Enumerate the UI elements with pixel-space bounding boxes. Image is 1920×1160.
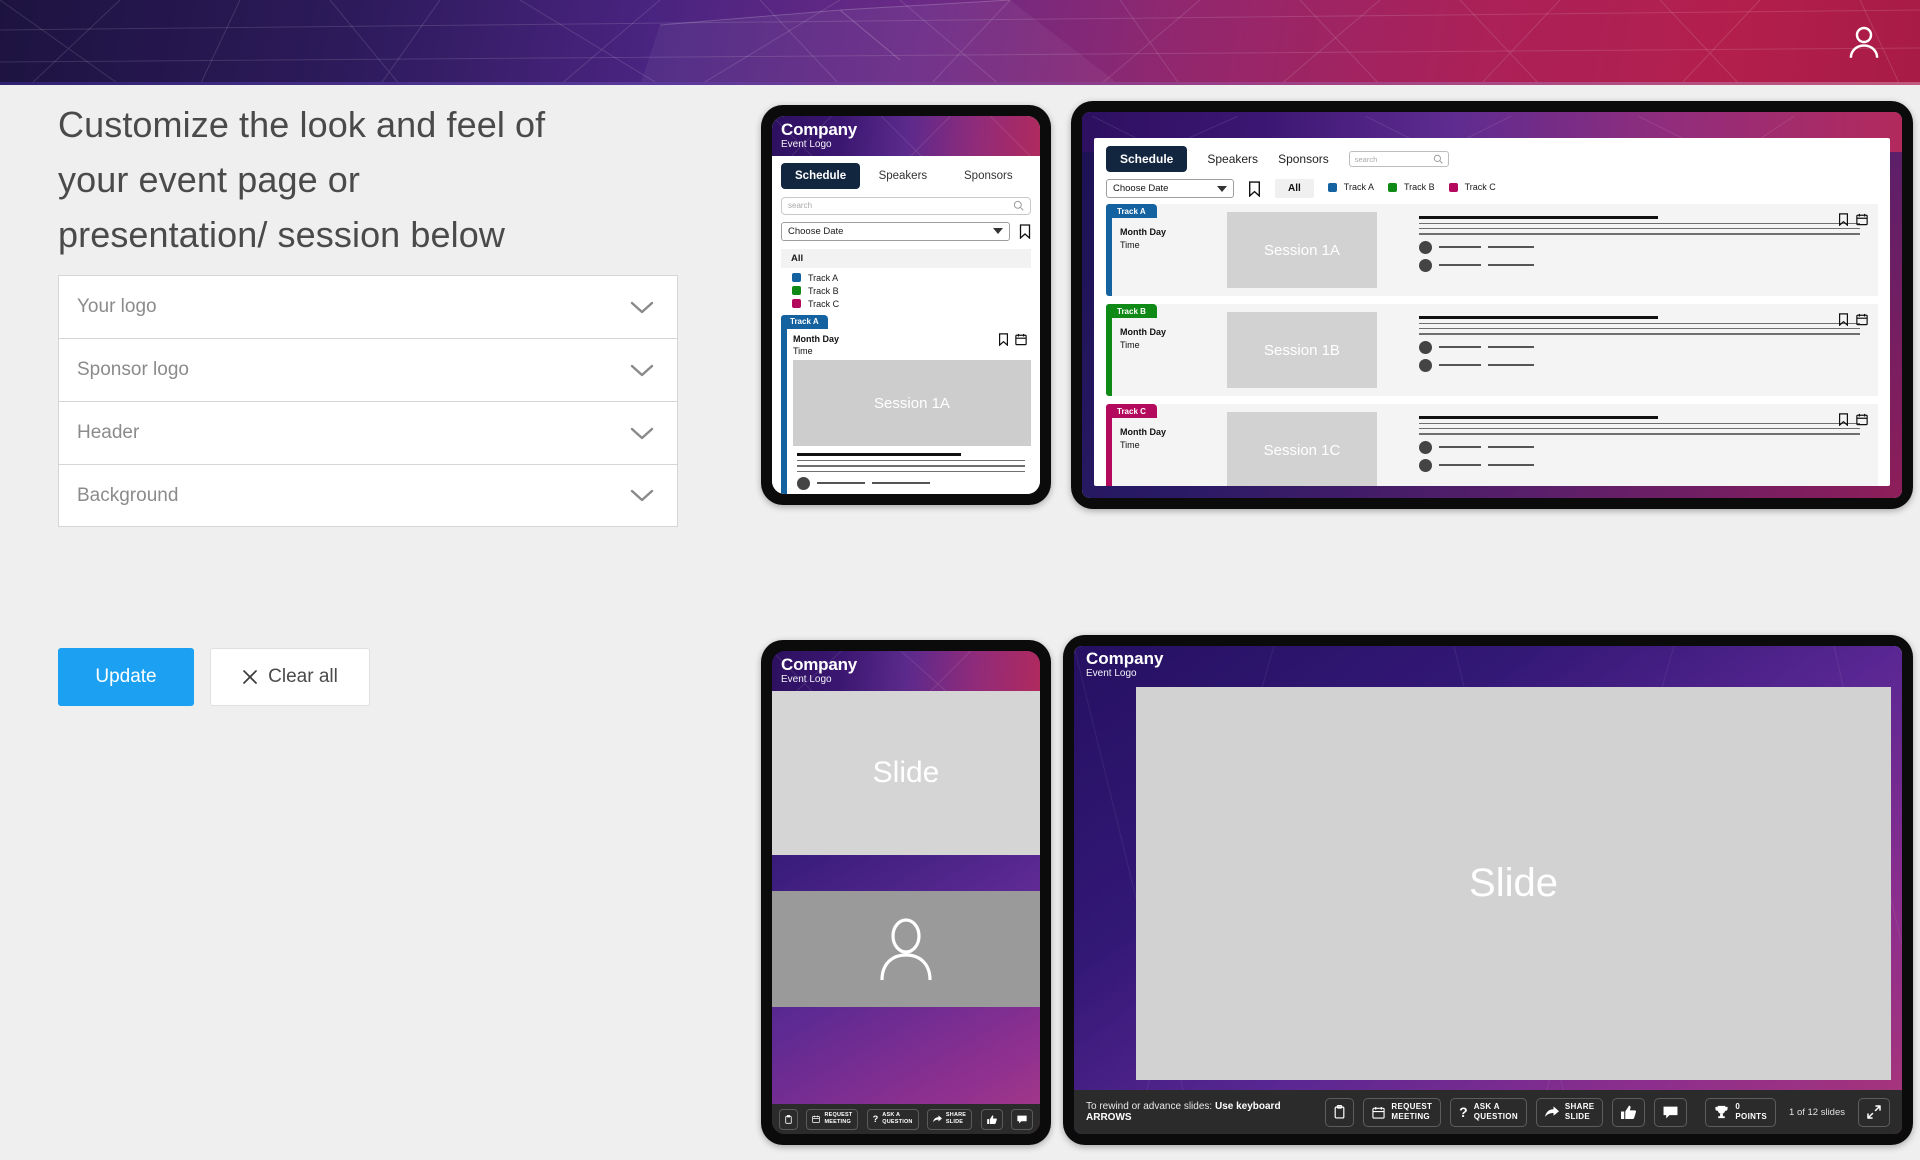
description-line — [797, 460, 1025, 461]
session-description — [1377, 204, 1878, 288]
search-placeholder: search — [1355, 155, 1378, 164]
phone-search-input[interactable]: search — [781, 197, 1031, 215]
description-line — [1419, 223, 1860, 224]
fullscreen-button[interactable] — [1858, 1098, 1890, 1127]
track-label: Track B — [1404, 182, 1435, 192]
request-meeting-label: REQUEST MEETING — [1391, 1102, 1432, 1123]
label-line1: ASK A — [882, 1112, 912, 1119]
track-label: Track B — [808, 286, 839, 296]
event-brand-header: Company Event Logo — [1074, 646, 1902, 682]
speaker-row — [1419, 341, 1878, 354]
thumbs-up-icon — [987, 1115, 997, 1124]
session-row-body: Track C Month Day Time Session 1C — [1112, 404, 1878, 486]
session-time: Time — [1120, 239, 1227, 252]
session-meta: Track B Month Day Time — [1112, 304, 1227, 388]
session-date: Month Day — [793, 333, 839, 345]
session-actions — [1838, 313, 1868, 326]
bookmark-icon[interactable] — [1019, 224, 1031, 239]
request-meeting-button[interactable]: REQUEST MEETING — [1363, 1098, 1441, 1127]
accordion-label: Background — [77, 485, 178, 507]
session-row[interactable]: Track B Month Day Time Session 1B — [1106, 304, 1878, 396]
session-date: Month Day — [1120, 226, 1227, 239]
label-line1: REQUEST — [1391, 1102, 1432, 1112]
accordion-item-sponsor-logo[interactable]: Sponsor logo — [58, 338, 678, 401]
track-legend-item[interactable]: Track C — [1449, 182, 1496, 192]
track-label: Track C — [1465, 182, 1496, 192]
speaker-name-line — [1439, 446, 1481, 448]
tablet-slide-body: Company Event Logo Slide To rewind or ad… — [1074, 646, 1902, 1134]
speaker-avatar — [797, 477, 810, 490]
description-line — [1419, 423, 1860, 424]
speaker-title-line — [1488, 264, 1534, 266]
slide-canvas: Slide — [1136, 687, 1891, 1080]
track-color-swatch — [792, 299, 801, 308]
session-meta: Track C Month Day Time — [1112, 404, 1227, 486]
accordion-label: Sponsor logo — [77, 359, 189, 381]
speaker-video-area — [772, 891, 1040, 1007]
description-line — [1419, 428, 1860, 429]
track-legend-item[interactable]: Track B — [1388, 182, 1435, 192]
phone-schedule-preview: Company Event Logo Schedule Speakers Spo… — [761, 105, 1051, 505]
comment-icon — [1017, 1115, 1027, 1124]
track-color-swatch — [792, 286, 801, 295]
session-actions — [1838, 413, 1868, 426]
share-slide-label: SHARE SLIDE — [946, 1112, 966, 1126]
speaker-name-line — [1439, 364, 1481, 366]
speaker-name-line — [1439, 264, 1481, 266]
user-avatar-icon — [1843, 21, 1885, 63]
track-color-swatch — [1388, 183, 1397, 192]
banner-polygon-pattern — [0, 0, 1920, 85]
chevron-down-icon — [1217, 186, 1227, 192]
tab-sponsors[interactable]: Sponsors — [1278, 152, 1329, 166]
label-line1: REQUEST — [824, 1112, 852, 1119]
track-legend-item[interactable]: Track B — [792, 286, 1031, 296]
phone-slide-body: Company Event Logo Slide — [772, 651, 1040, 1134]
choose-date-value: Choose Date — [1113, 183, 1168, 194]
speaker-avatar — [1419, 341, 1432, 354]
calendar-icon[interactable] — [1015, 333, 1027, 346]
share-icon — [1545, 1106, 1559, 1118]
track-label: Track C — [808, 299, 839, 309]
chevron-down-icon — [629, 488, 655, 503]
page-title: Customize the look and feel of your even… — [58, 97, 568, 262]
search-placeholder: search — [788, 201, 812, 210]
chevron-down-icon — [629, 300, 655, 315]
phone-schedule-body: Schedule Speakers Sponsors search Choose… — [772, 156, 1040, 494]
clipboard-icon — [785, 1115, 792, 1124]
speaker-name-line — [1439, 464, 1481, 466]
label-line2: MEETING — [824, 1119, 852, 1126]
track-legend-item[interactable]: Track A — [792, 273, 1031, 283]
speaker-title-line — [1488, 446, 1534, 448]
choose-date-value: Choose Date — [788, 226, 843, 237]
session-time: Time — [1120, 439, 1227, 452]
label-line2: SLIDE — [1565, 1112, 1595, 1122]
speaker-avatar — [1419, 441, 1432, 454]
description-title-line — [1419, 416, 1658, 419]
phone-slide-toolbar: REQUEST MEETING ? ASK A QUESTION SHARE — [772, 1104, 1040, 1134]
track-legend-item[interactable]: Track A — [1328, 182, 1374, 192]
session-description — [1377, 304, 1878, 388]
session-thumbnail: Session 1A — [1227, 212, 1377, 288]
bookmark-icon[interactable] — [1248, 181, 1261, 197]
like-button[interactable] — [981, 1109, 1003, 1130]
description-line — [1419, 228, 1860, 229]
label-line1: SHARE — [1565, 1102, 1595, 1112]
track-label: Track A — [808, 273, 838, 283]
points-label: POINTS — [1735, 1112, 1767, 1122]
track-legend: Track A Track B Track C — [781, 268, 1031, 309]
phone-slide-preview: Company Event Logo Slide — [761, 640, 1051, 1145]
bookmark-icon[interactable] — [1838, 313, 1849, 326]
event-logo-label: Event Logo — [1086, 668, 1890, 679]
session-track-tag: Track A — [1106, 204, 1157, 218]
session-time: Time — [1120, 339, 1227, 352]
share-slide-button[interactable]: SHARE SLIDE — [927, 1109, 972, 1130]
tab-speakers[interactable]: Speakers — [860, 164, 945, 188]
tab-schedule[interactable]: Schedule — [781, 163, 860, 189]
request-meeting-button[interactable]: REQUEST MEETING — [806, 1109, 858, 1130]
phone-date-row: Choose Date — [781, 222, 1031, 241]
tablet-schedule-screen: Company Event Logo Schedule Speakers Spo… — [1082, 112, 1902, 498]
session-row[interactable]: Track C Month Day Time Session 1C — [1106, 404, 1878, 486]
session-thumbnail: Session 1C — [1227, 412, 1377, 486]
description-line — [1419, 433, 1860, 434]
phone-slide-screen: Company Event Logo Slide — [772, 651, 1040, 1134]
session-description — [787, 446, 1031, 494]
track-legend-item[interactable]: Track C — [792, 299, 1031, 309]
accordion-label: Header — [77, 422, 139, 444]
speaker-title-line — [1488, 346, 1534, 348]
tablet-schedule-content: Schedule Speakers Sponsors search Choose… — [1094, 138, 1890, 486]
session-tag-row: Track A — [787, 315, 1031, 329]
question-icon: ? — [873, 1114, 879, 1124]
accordion-label: Your logo — [77, 296, 157, 318]
speaker-avatar — [1419, 359, 1432, 372]
session-description — [1377, 404, 1878, 486]
session-meta: Track A Month Day Time — [1112, 204, 1227, 288]
description-title-line — [1419, 316, 1658, 319]
hint-prefix: To rewind or advance slides: — [1086, 1101, 1215, 1112]
bookmark-icon[interactable] — [1838, 213, 1849, 226]
description-title-line — [797, 453, 961, 456]
close-x-icon — [242, 669, 258, 685]
event-brand-header: Company Event Logo — [772, 116, 1040, 156]
tablet-search-input[interactable]: search — [1349, 151, 1449, 167]
search-icon — [1013, 200, 1024, 211]
speaker-name-line — [817, 482, 865, 484]
speaker-name-line — [1439, 246, 1481, 248]
tab-speakers[interactable]: Speakers — [1207, 152, 1258, 166]
search-icon — [1433, 154, 1443, 164]
question-icon: ? — [1459, 1104, 1468, 1120]
ask-question-label: ASK A QUESTION — [882, 1112, 912, 1126]
clipboard-icon — [1334, 1105, 1345, 1119]
clear-all-button[interactable]: Clear all — [210, 648, 370, 706]
slide-gap — [772, 855, 1040, 891]
trophy-icon — [1714, 1105, 1729, 1119]
slide-label: Slide — [873, 756, 940, 790]
tablet-slide-toolbar: To rewind or advance slides: Use keyboar… — [1074, 1090, 1902, 1134]
description-line — [1419, 323, 1860, 324]
description-line — [1419, 328, 1860, 329]
top-banner — [0, 0, 1920, 85]
accordion-item-your-logo[interactable]: Your logo — [58, 275, 678, 338]
description-line — [1419, 233, 1860, 234]
choose-date-select[interactable]: Choose Date — [781, 222, 1010, 241]
slide-counter: 1 of 12 slides — [1789, 1107, 1845, 1118]
person-silhouette-icon — [877, 916, 935, 982]
tablet-tab-bar: Schedule Speakers Sponsors search — [1094, 138, 1890, 172]
session-datetime: Month Day Time — [793, 333, 839, 357]
session-time: Time — [793, 345, 839, 357]
update-button[interactable]: Update — [58, 648, 194, 706]
session-row-body: Track B Month Day Time Session 1B — [1112, 304, 1878, 396]
session-meta: Month Day Time — [787, 329, 1031, 360]
session-track-tag: Track B — [1106, 304, 1157, 318]
notes-button[interactable] — [779, 1109, 798, 1130]
description-line — [797, 471, 1025, 472]
session-row-body: Track A Month Day Time Session 1A — [1112, 204, 1878, 296]
tablet-slide-preview: Company Event Logo Slide To rewind or ad… — [1063, 635, 1913, 1145]
action-buttons: Update Clear all — [58, 648, 370, 706]
track-color-swatch — [792, 273, 801, 282]
notes-button[interactable] — [1325, 1098, 1354, 1127]
share-slide-label: SHARE SLIDE — [1565, 1102, 1595, 1123]
speaker-row — [1419, 259, 1878, 272]
speaker-title-line — [1488, 364, 1534, 366]
accordion-item-header[interactable]: Header — [58, 401, 678, 464]
calendar-icon[interactable] — [1856, 413, 1868, 426]
phone-tab-bar: Schedule Speakers Sponsors — [781, 163, 1031, 189]
session-actions — [998, 333, 1031, 346]
tab-sponsors[interactable]: Sponsors — [946, 164, 1031, 188]
thumbs-up-icon — [1621, 1105, 1636, 1119]
speaker-title-line — [1488, 246, 1534, 248]
session-actions — [1838, 213, 1868, 226]
event-brand-header: Company Event Logo — [772, 651, 1040, 691]
label-line2: MEETING — [1391, 1112, 1432, 1122]
speaker-avatar — [1419, 259, 1432, 272]
session-thumbnail: Session 1A — [793, 360, 1031, 446]
track-color-swatch — [1328, 183, 1337, 192]
speaker-avatar — [1419, 241, 1432, 254]
label-line2: QUESTION — [882, 1119, 912, 1126]
calendar-icon — [1372, 1106, 1385, 1119]
ask-a-question-button[interactable]: ? ASK A QUESTION — [1450, 1098, 1527, 1127]
track-label: Track A — [1344, 182, 1374, 192]
speaker-row — [1419, 441, 1878, 454]
event-logo-label: Event Logo — [781, 139, 1031, 151]
ask-question-label: ASK A QUESTION — [1474, 1102, 1518, 1123]
description-line — [1419, 333, 1860, 334]
speaker-row — [1419, 459, 1878, 472]
chevron-down-icon — [629, 426, 655, 441]
label-line1: SHARE — [946, 1112, 966, 1119]
event-logo-label: Event Logo — [781, 674, 1031, 686]
customize-accordion: Your logo Sponsor logo Header Background — [58, 275, 678, 527]
share-slide-button[interactable]: SHARE SLIDE — [1536, 1098, 1604, 1127]
session-track-tag: Track C — [1106, 404, 1157, 418]
tablet-filter-bar: Choose Date All Track A Track B Track C — [1094, 172, 1890, 198]
slide-canvas: Slide — [772, 691, 1040, 855]
expand-icon — [1867, 1105, 1881, 1119]
filter-all[interactable]: All — [781, 249, 1031, 268]
label-line2: QUESTION — [1474, 1112, 1518, 1122]
calendar-icon[interactable] — [1856, 213, 1868, 226]
points-label-group: 0 POINTS — [1735, 1102, 1767, 1123]
customize-panel: Customize the look and feel of your even… — [0, 85, 620, 1160]
share-icon — [933, 1115, 942, 1123]
session-row[interactable]: Track A Month Day Time Session 1A — [1106, 204, 1878, 296]
session-date: Month Day — [1120, 326, 1227, 339]
speaker-row — [1419, 359, 1878, 372]
speaker-title-line — [872, 482, 930, 484]
comment-button[interactable] — [1011, 1109, 1033, 1130]
comment-icon — [1663, 1106, 1678, 1119]
track-color-swatch — [1449, 183, 1458, 192]
description-line — [797, 465, 1025, 466]
speaker-name-line — [1439, 346, 1481, 348]
session-date: Month Day — [1120, 426, 1227, 439]
description-title-line — [1419, 216, 1658, 219]
slide-label: Slide — [1469, 861, 1558, 906]
filter-all[interactable]: All — [1275, 179, 1314, 198]
label-line2: SLIDE — [946, 1119, 966, 1126]
session-track-tag: Track A — [781, 315, 828, 329]
request-meeting-label: REQUEST MEETING — [824, 1112, 852, 1126]
tab-schedule[interactable]: Schedule — [1106, 146, 1187, 172]
calendar-icon[interactable] — [1856, 313, 1868, 326]
clear-all-label: Clear all — [268, 666, 338, 688]
keyboard-hint: To rewind or advance slides: Use keyboar… — [1086, 1101, 1307, 1123]
label-line1: ASK A — [1474, 1102, 1518, 1112]
tablet-slide-screen: Company Event Logo Slide To rewind or ad… — [1074, 646, 1902, 1134]
session-content: Track A Month Day Time Session 1A — [787, 315, 1031, 494]
user-avatar-button[interactable] — [1830, 8, 1898, 76]
session-thumbnail: Session 1B — [1227, 312, 1377, 388]
speaker-title-line — [1488, 464, 1534, 466]
ask-a-question-button[interactable]: ? ASK A QUESTION — [867, 1109, 919, 1130]
speaker-row — [1419, 241, 1878, 254]
speaker-avatar — [1419, 459, 1432, 472]
slide-background-fill — [772, 1007, 1040, 1104]
bookmark-icon[interactable] — [998, 333, 1009, 346]
phone-schedule-screen: Company Event Logo Schedule Speakers Spo… — [772, 116, 1040, 494]
chevron-down-icon — [993, 228, 1003, 234]
choose-date-select[interactable]: Choose Date — [1106, 179, 1234, 198]
session-card[interactable]: Track A Month Day Time Session 1A — [781, 315, 1031, 494]
speaker-row — [797, 477, 1025, 490]
calendar-icon — [812, 1115, 820, 1123]
bookmark-icon[interactable] — [1838, 413, 1849, 426]
chevron-down-icon — [629, 363, 655, 378]
comment-button[interactable] — [1654, 1098, 1687, 1127]
tablet-schedule-preview: Company Event Logo Schedule Speakers Spo… — [1071, 101, 1913, 509]
like-button[interactable] — [1612, 1098, 1645, 1127]
points-value: 0 — [1735, 1102, 1767, 1112]
points-button[interactable]: 0 POINTS — [1705, 1098, 1776, 1127]
session-list: Track A Month Day Time Session 1A — [1094, 198, 1890, 486]
accordion-item-background[interactable]: Background — [58, 464, 678, 527]
company-name: Company — [1086, 650, 1890, 668]
